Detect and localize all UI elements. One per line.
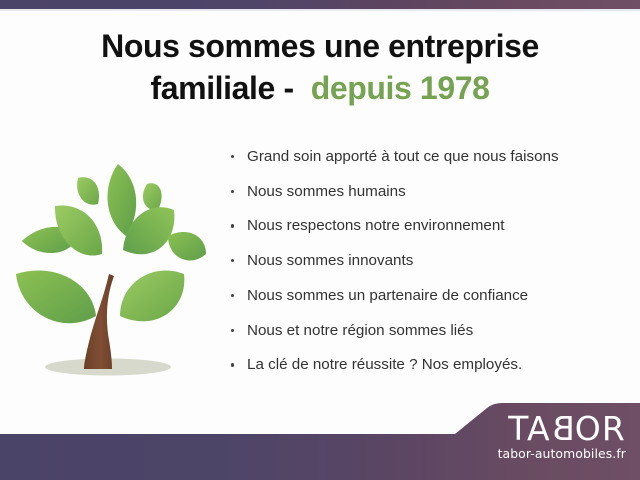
page-title-gap <box>294 70 311 106</box>
page-title-dash-glyph: - <box>283 70 293 106</box>
brand-part-2: OR <box>575 409 626 448</box>
list-item: Nous sommes humains <box>230 183 630 202</box>
page-title: Nous sommes une entreprise familiale - d… <box>0 26 640 109</box>
bullet-icon <box>231 259 234 262</box>
list-item: Nous et notre région sommes liés <box>230 322 630 341</box>
list-item-label: La clé de notre réussite ? Nos employés. <box>247 356 522 373</box>
top-accent-bar <box>0 0 640 9</box>
list-item-label: Nous et notre région sommes liés <box>247 322 473 339</box>
family-tree-illustration <box>8 150 208 390</box>
list-item-label: Grand soin apporté à tout ce que nous fa… <box>247 148 559 165</box>
bullet-icon <box>231 363 234 366</box>
page-title-line-2-prefix: familiale <box>150 70 274 106</box>
bullet-icon <box>231 329 234 332</box>
list-item: Grand soin apporté à tout ce que nous fa… <box>230 148 630 167</box>
list-item: Nous sommes innovants <box>230 252 630 271</box>
list-item: La clé de notre réussite ? Nos employés. <box>230 356 630 375</box>
list-item-label: Nous sommes un partenaire de confiance <box>247 287 528 304</box>
brand-mirrored-b-glyph: B <box>551 412 575 445</box>
list-item-label: Nous sommes innovants <box>247 252 413 269</box>
tree-leaves <box>16 164 206 323</box>
list-item-label: Nous respectons notre environnement <box>247 217 505 234</box>
list-item: Nous respectons notre environnement <box>230 217 630 236</box>
list-item-label: Nous sommes humains <box>247 183 406 200</box>
page-title-accent: depuis 1978 <box>311 70 490 106</box>
brand-website-url[interactable]: tabor-automobiles.fr <box>458 448 626 460</box>
page-title-line-1: Nous sommes une entreprise <box>101 28 539 64</box>
benefits-list: Grand soin apporté à tout ce que nous fa… <box>230 148 630 391</box>
list-item: Nous sommes un partenaire de confiance <box>230 287 630 306</box>
page-title-line-2: familiale - depuis 1978 <box>0 68 640 110</box>
bullet-icon <box>231 224 234 227</box>
bullet-icon <box>231 190 234 193</box>
brand-wordmark: TABOR <box>458 412 626 445</box>
footer-band: TABOR tabor-automobiles.fr <box>0 398 640 480</box>
bullet-icon <box>231 155 234 158</box>
brand-part-1: TA <box>508 409 551 448</box>
brand-logo[interactable]: TABOR tabor-automobiles.fr <box>458 412 626 460</box>
top-bar-hairline <box>0 9 640 11</box>
tree-trunk <box>84 274 114 369</box>
slide-canvas: Nous sommes une entreprise familiale - d… <box>0 0 640 480</box>
bullet-icon <box>231 294 234 297</box>
